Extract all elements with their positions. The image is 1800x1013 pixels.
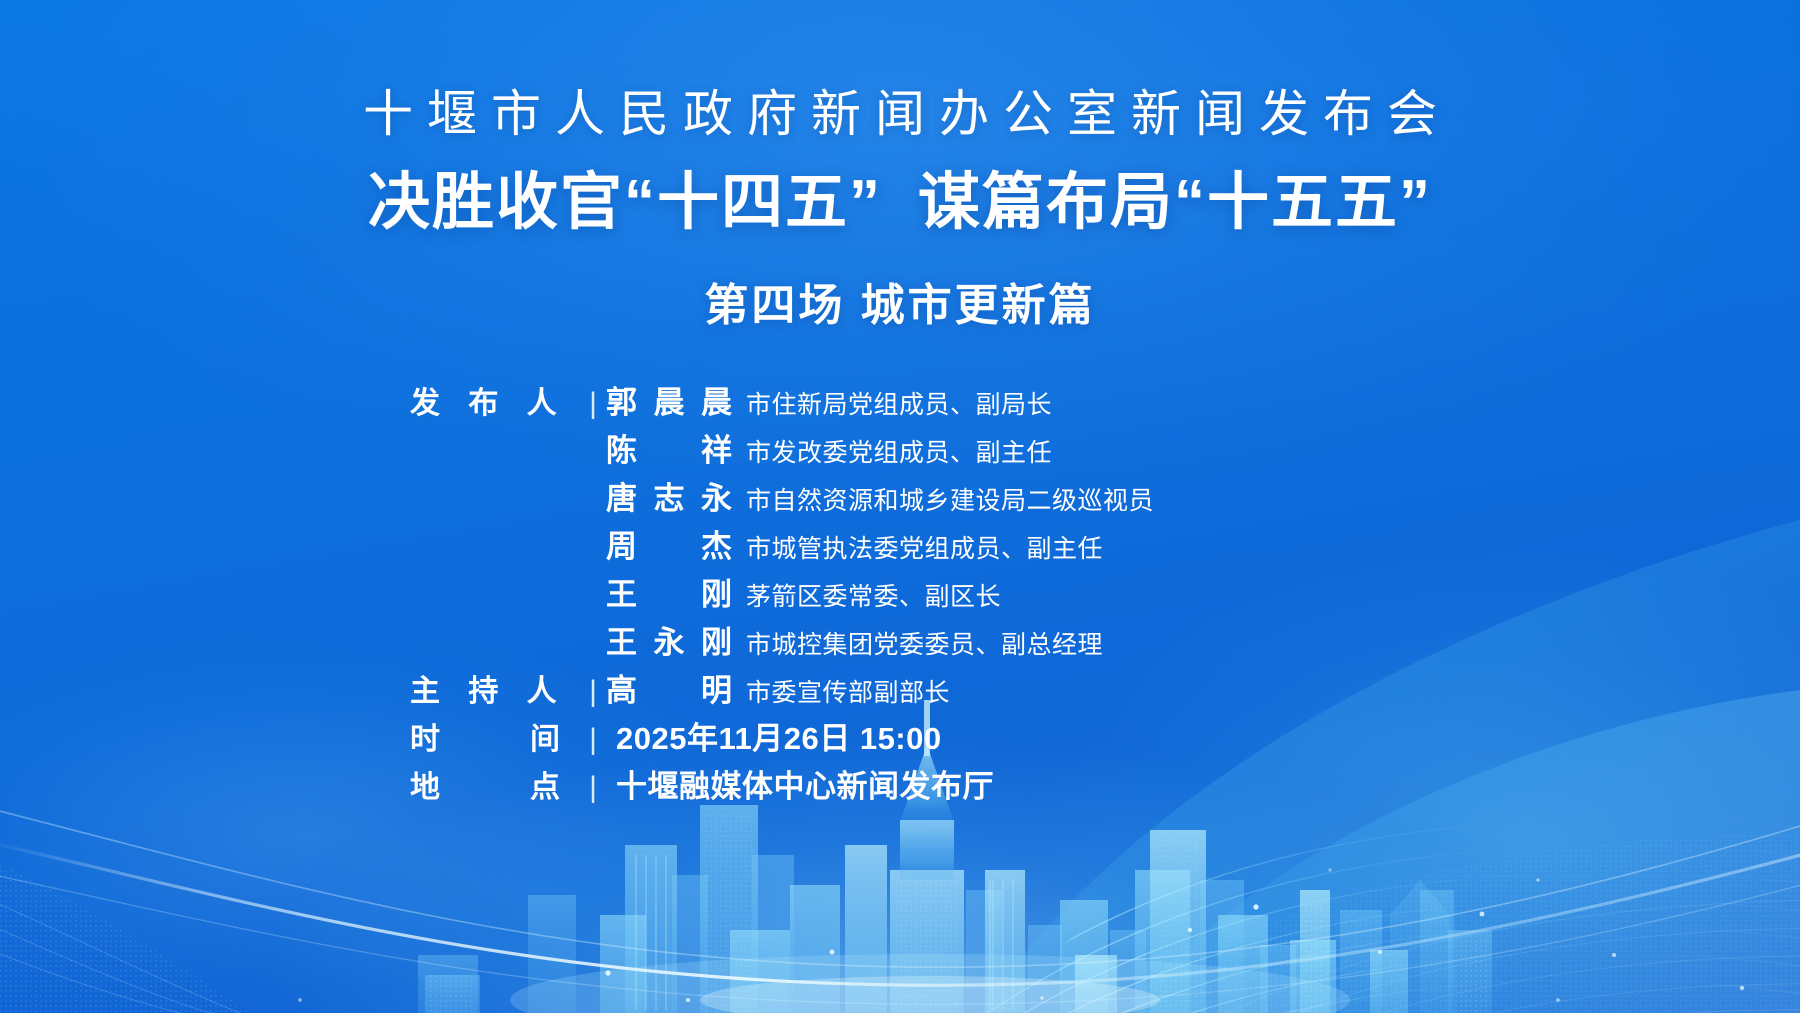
sub-title: 第四场 城市更新篇 [0,269,1800,333]
time-row: 时 间 | 2025年11月26日 15:00 [400,713,1400,761]
place-row: 地 点 | 十堰融媒体中心新闻发布厅 [400,761,1400,809]
host-row: 主 持 人 | 高 明 市委宣传部副部长 [400,665,1400,713]
host-label: 主 持 人 [400,666,580,710]
row-separator: | [580,771,606,805]
speaker-name: 郭晨晨 [606,377,734,422]
speaker-row: 发 布 人 | 陈 祥 市发改委党组成员、副主任 [400,425,1400,473]
speaker-row: 发 布 人 | 王 刚 茅箭区委常委、副区长 [400,569,1400,617]
speaker-name: 王永刚 [606,617,734,662]
organizer-line: 十堰市人民政府新闻办公室新闻发布会 [0,86,1800,144]
speaker-name: 唐志永 [606,473,734,518]
row-separator: | [580,675,606,709]
speaker-name: 周 杰 [606,521,734,566]
speaker-title: 茅箭区委常委、副区长 [734,577,1400,613]
speaker-name: 王 刚 [606,569,734,614]
row-separator: | [580,723,606,757]
speaker-title: 市城控集团党委委员、副总经理 [734,625,1400,661]
speaker-name: 陈 祥 [606,425,734,470]
host-name: 高 明 [606,665,734,710]
speaker-title: 市住新局党组成员、副局长 [734,385,1400,421]
press-conference-poster: 十堰市人民政府新闻办公室新闻发布会 决胜收官“十四五”谋篇布局“十五五” 第四场… [0,0,1800,1013]
host-title: 市委宣传部副部长 [734,673,1400,709]
speaker-row: 发 布 人 | 唐志永 市自然资源和城乡建设局二级巡视员 [400,473,1400,521]
place-label: 地 点 [400,762,580,806]
main-title: 决胜收官“十四五”谋篇布局“十五五” [0,166,1800,239]
row-separator: | [580,387,606,421]
main-title-part1: 决胜收官“十四五” [368,168,882,237]
time-value: 2025年11月26日 15:00 [606,713,1400,758]
speaker-row: 发 布 人 | 王永刚 市城控集团党委委员、副总经理 [400,617,1400,665]
speakers-label: 发 布 人 [400,378,580,422]
speaker-row: 发 布 人 | 郭晨晨 市住新局党组成员、副局长 [400,377,1400,425]
place-value: 十堰融媒体中心新闻发布厅 [606,761,1400,806]
details-block: 发 布 人 | 郭晨晨 市住新局党组成员、副局长 发 布 人 | 陈 祥 市发改… [0,377,1800,809]
speaker-title: 市发改委党组成员、副主任 [734,433,1400,469]
main-title-part2: 谋篇布局“十五五” [918,168,1432,237]
speaker-title: 市自然资源和城乡建设局二级巡视员 [734,481,1400,517]
header-block: 十堰市人民政府新闻办公室新闻发布会 决胜收官“十四五”谋篇布局“十五五” 第四场… [0,0,1800,333]
poster-content: 十堰市人民政府新闻办公室新闻发布会 决胜收官“十四五”谋篇布局“十五五” 第四场… [0,0,1800,1013]
time-label: 时 间 [400,714,580,758]
speaker-row: 发 布 人 | 周 杰 市城管执法委党组成员、副主任 [400,521,1400,569]
speaker-title: 市城管执法委党组成员、副主任 [734,529,1400,565]
